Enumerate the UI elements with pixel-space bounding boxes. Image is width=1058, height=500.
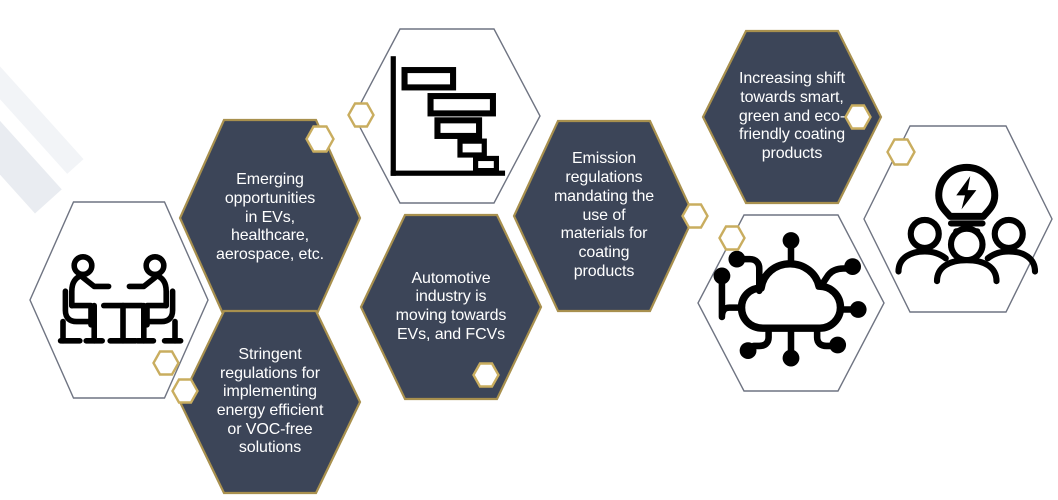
hexagon-filled-shape	[180, 311, 360, 493]
corner-ribbon-decoration-2	[0, 0, 84, 174]
emerging-opportunities-hex[interactable]: Emerging opportunities in EVs, healthcar…	[177, 117, 363, 319]
connector-hex-1	[152, 350, 180, 376]
hexagon-filled-shape	[514, 121, 694, 311]
connector-hex-8	[718, 225, 746, 251]
connector-hex-3	[171, 378, 199, 404]
connector-hex-2	[305, 125, 335, 153]
infographic-canvas: Emerging opportunities in EVs, healthcar…	[0, 0, 1058, 500]
connector-hex-5	[472, 362, 500, 388]
increasing-shift-hex[interactable]: Increasing shift towards smart, green an…	[700, 28, 884, 206]
stringent-regulations-hex[interactable]: Stringent regulations for implementing e…	[177, 308, 363, 496]
emission-regulations-hex[interactable]: Emission regulations mandating the use o…	[511, 118, 697, 314]
corner-ribbon-decoration	[0, 0, 62, 214]
idea-team-icon-hex[interactable]	[862, 124, 1054, 314]
connector-hex-4	[347, 102, 375, 128]
connector-hex-9	[886, 138, 916, 166]
cloud-network-icon-hex[interactable]	[696, 213, 886, 393]
